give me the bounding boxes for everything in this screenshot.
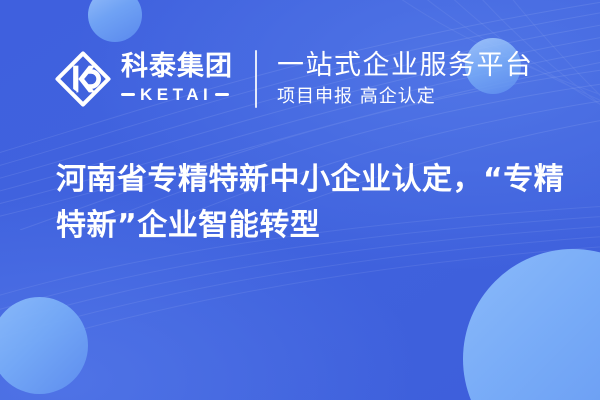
ketai-logo-icon[interactable] bbox=[54, 50, 112, 108]
tagline-main: 一站式企业服务平台 bbox=[277, 51, 534, 81]
brand-name-cn: 科泰集团 bbox=[121, 53, 233, 82]
dash-left-icon bbox=[121, 93, 135, 96]
decorative-circle-top-left bbox=[88, 0, 142, 42]
page-title: 河南省专精特新中小企业认定，“专精特新”企业智能转型 bbox=[56, 157, 576, 248]
logo-wordmark: 科泰集团 KETAI bbox=[121, 53, 233, 105]
tagline-block: 一站式企业服务平台 项目申报 高企认定 bbox=[277, 51, 534, 106]
brand-name-en: KETAI bbox=[135, 85, 215, 105]
brand-name-en-row: KETAI bbox=[121, 85, 233, 105]
decorative-circle-bottom-left bbox=[0, 297, 88, 394]
vertical-divider bbox=[255, 50, 257, 108]
banner-header: 科泰集团 KETAI 一站式企业服务平台 项目申报 高企认定 bbox=[54, 44, 534, 114]
dash-right-icon bbox=[215, 93, 229, 96]
tagline-sub: 项目申报 高企认定 bbox=[277, 87, 534, 107]
decorative-circle-bottom-right bbox=[463, 249, 600, 400]
promo-banner: 科泰集团 KETAI 一站式企业服务平台 项目申报 高企认定 河南省专精特新中小… bbox=[0, 0, 600, 400]
